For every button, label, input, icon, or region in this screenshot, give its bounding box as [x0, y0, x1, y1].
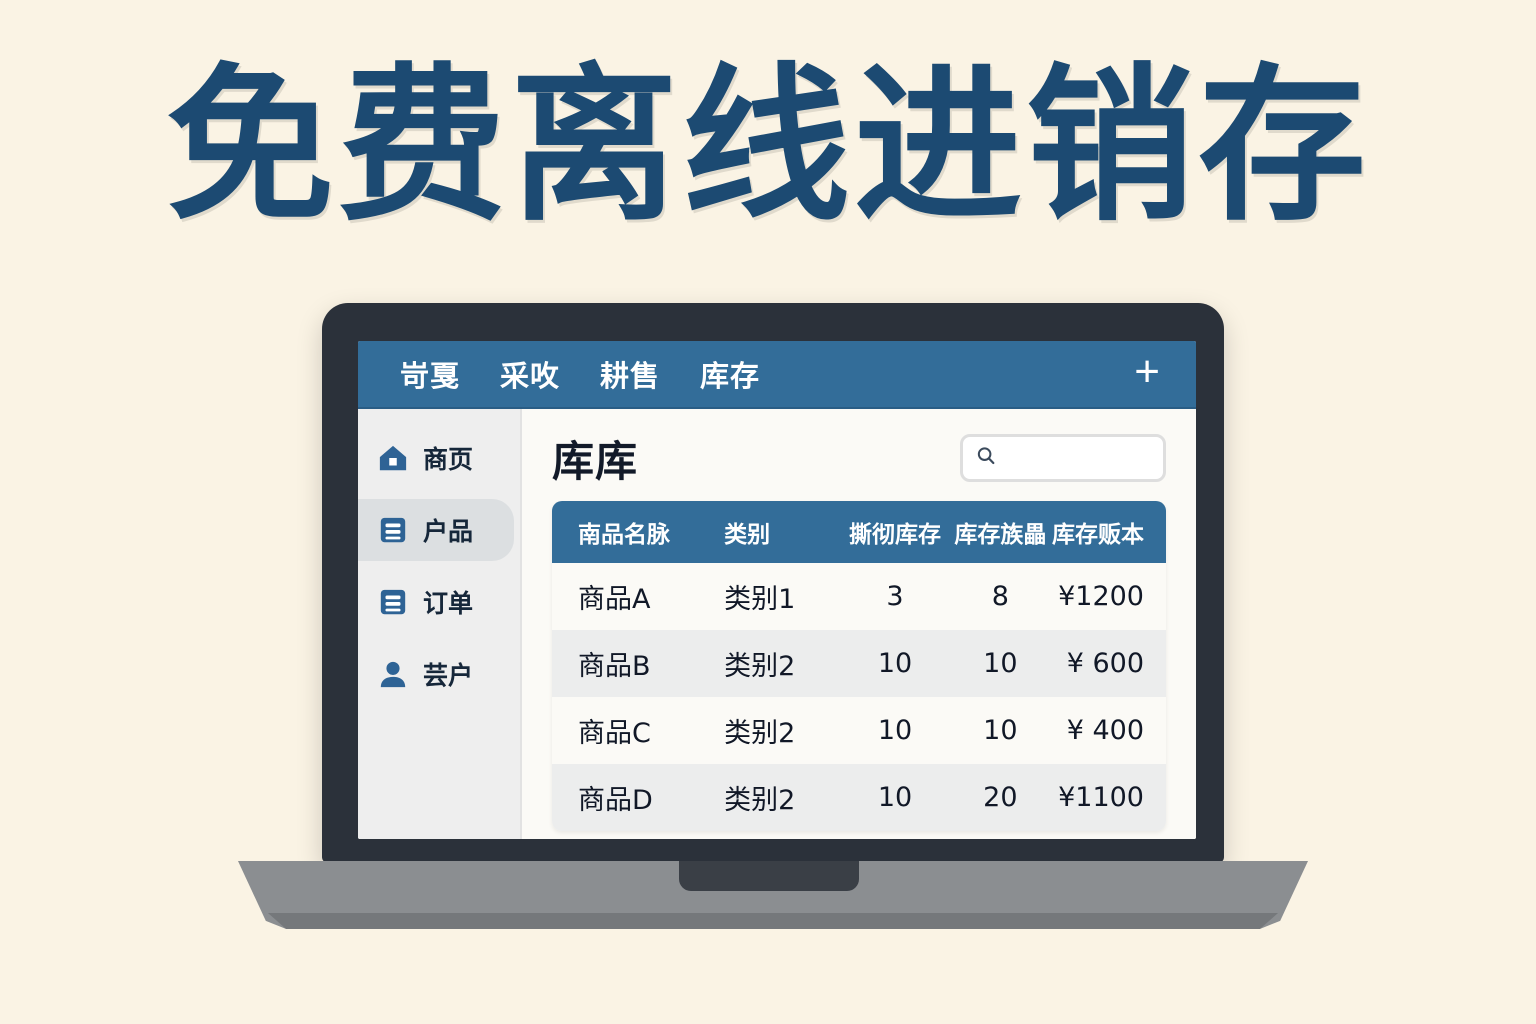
app-body: 商页 户品	[358, 409, 1196, 839]
cell-cost: ¥ 600	[1049, 630, 1166, 697]
nav-item-sales[interactable]: 耕售	[600, 353, 660, 395]
table-row[interactable]: 商品B 类别2 10 10 ¥ 600	[552, 630, 1166, 697]
list-icon	[378, 587, 408, 617]
laptop-mockup: 岢戛 采呚 耕售 库存 + 商页	[322, 303, 1224, 863]
laptop-base-edge	[238, 913, 1308, 929]
table-header-row: 南品名脉 类别 撕彻库存 库存族畾 库存贩本	[552, 501, 1166, 563]
search-input[interactable]	[1005, 447, 1151, 469]
column-header-quantity[interactable]: 库存族畾	[952, 501, 1049, 563]
table-body: 商品A 类别1 3 8 ¥1200 商品B 类别2 10 10 ¥ 600	[552, 563, 1166, 831]
sidebar-item-orders[interactable]: 订单	[358, 571, 520, 633]
search-box[interactable]	[960, 434, 1166, 482]
cell-name: 商品A	[552, 563, 724, 630]
cell-stock: 10	[838, 630, 952, 697]
cell-quantity: 10	[952, 697, 1049, 764]
cell-cost: ¥1200	[1049, 563, 1166, 630]
cell-stock: 10	[838, 697, 952, 764]
inventory-table: 南品名脉 类别 撕彻库存 库存族畾 库存贩本 商品A 类别1 3 8	[552, 501, 1166, 831]
column-header-category[interactable]: 类别	[724, 501, 838, 563]
sidebar-item-products[interactable]: 户品	[358, 499, 514, 561]
top-navigation-bar: 岢戛 采呚 耕售 库存 +	[358, 341, 1196, 409]
column-header-name[interactable]: 南品名脉	[552, 501, 724, 563]
cell-category: 类别1	[724, 563, 838, 630]
laptop-screen: 岢戛 采呚 耕售 库存 + 商页	[358, 341, 1196, 839]
table-row[interactable]: 商品D 类别2 10 20 ¥1100	[552, 764, 1166, 831]
sidebar-item-label: 芸户	[423, 656, 473, 692]
column-header-stock[interactable]: 撕彻库存	[838, 501, 952, 563]
sidebar-item-home[interactable]: 商页	[358, 427, 520, 489]
cell-quantity: 10	[952, 630, 1049, 697]
table-row[interactable]: 商品A 类别1 3 8 ¥1200	[552, 563, 1166, 630]
nav-item-home[interactable]: 岢戛	[400, 353, 460, 395]
cell-name: 商品B	[552, 630, 724, 697]
cell-category: 类别2	[724, 764, 838, 831]
sidebar-item-label: 订单	[423, 584, 473, 620]
cell-category: 类别2	[724, 630, 838, 697]
sidebar-item-customers[interactable]: 芸户	[358, 643, 520, 705]
table-header: 南品名脉 类别 撕彻库存 库存族畾 库存贩本	[552, 501, 1166, 563]
page-title: 库库	[552, 428, 638, 489]
cell-name: 商品D	[552, 764, 724, 831]
cell-stock: 3	[838, 563, 952, 630]
cell-name: 商品C	[552, 697, 724, 764]
nav-item-inventory[interactable]: 库存	[700, 353, 760, 395]
cell-category: 类别2	[724, 697, 838, 764]
search-icon	[975, 445, 997, 472]
top-nav-items: 岢戛 采呚 耕售 库存	[400, 353, 760, 395]
sidebar-item-label: 商页	[423, 440, 473, 476]
sidebar: 商页 户品	[358, 409, 522, 839]
cell-cost: ¥ 400	[1049, 697, 1166, 764]
sidebar-item-label: 户品	[423, 512, 473, 548]
laptop-hinge-notch	[679, 861, 859, 891]
main-content: 库库 南品名脉	[522, 409, 1196, 839]
user-icon	[378, 659, 408, 689]
cell-quantity: 20	[952, 764, 1049, 831]
main-header: 库库	[552, 427, 1166, 489]
cell-stock: 10	[838, 764, 952, 831]
page-headline: 免费离线进销存	[0, 58, 1536, 234]
column-header-cost[interactable]: 库存贩本	[1049, 501, 1166, 563]
cell-cost: ¥1100	[1049, 764, 1166, 831]
nav-item-purchase[interactable]: 采呚	[500, 353, 560, 395]
list-icon	[378, 515, 408, 545]
plus-icon[interactable]: +	[1134, 350, 1160, 394]
cell-quantity: 8	[952, 563, 1049, 630]
home-icon	[378, 443, 408, 473]
table-row[interactable]: 商品C 类别2 10 10 ¥ 400	[552, 697, 1166, 764]
